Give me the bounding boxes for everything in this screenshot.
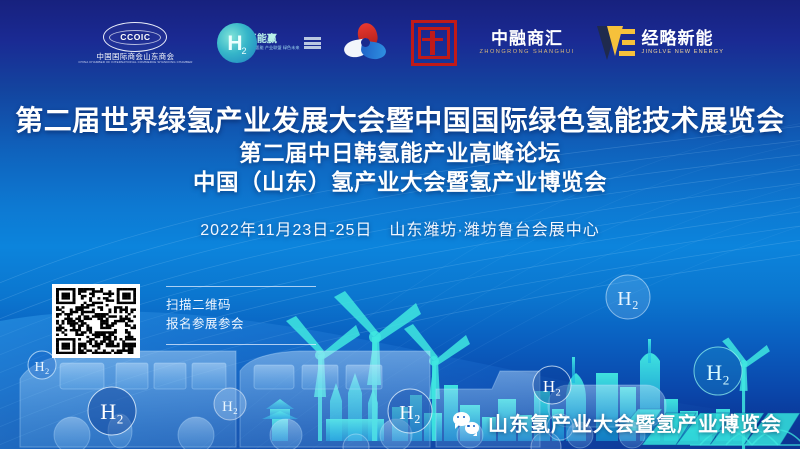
svg-text:H₂: H₂ (100, 399, 124, 424)
wechat-icon (453, 412, 479, 434)
wechat-account-name: 山东氢产业大会暨氢产业博览会 (488, 408, 782, 437)
qr-registration-block[interactable]: 扫描二维码 报名参展参会 (52, 284, 316, 358)
logo-h2-forum: H 2 氢能赢 中国氢能 产业联盟 绿色未来 (217, 19, 322, 67)
main-title: 第二届世界绿氢产业发展大会暨中国国际绿色氢能技术展览会 (0, 104, 800, 137)
svg-text:H₂: H₂ (399, 402, 420, 424)
svg-text:H₂: H₂ (617, 288, 638, 310)
h2-bar-icon (304, 37, 321, 49)
svg-text:H₂: H₂ (35, 360, 50, 375)
qr-line-1: 扫描二维码 (166, 296, 316, 315)
logo-jinglve-new-energy: 经略新能 JINGLVE NEW ENERGY (597, 19, 724, 67)
ccoic-english-name: CHINA CHAMBER OF INTERNATIONAL COMMERCE … (78, 61, 192, 64)
logo-tri-swirl (343, 19, 389, 67)
ccoic-chinese-name: 中国国际商会山东商会 (96, 53, 174, 60)
event-poster: CCOIC 中国国际商会山东商会 CHINA CHAMBER OF INTERN… (0, 0, 800, 449)
zhongrong-english-name: ZHONGRONG SHANGHUI (479, 50, 574, 56)
qr-line-2: 报名参展参会 (166, 315, 316, 334)
h2-bubble: H₂ (388, 389, 432, 433)
svg-text:H₂: H₂ (543, 377, 561, 396)
qr-code[interactable] (52, 284, 140, 358)
red-seal-icon (411, 20, 457, 66)
h2-subscript: 2 (241, 46, 246, 56)
h2-bubble: H₂ (88, 387, 136, 435)
h2-bubble (343, 434, 369, 449)
h2-letter: H (227, 33, 241, 54)
sponsor-logo-bar: CCOIC 中国国际商会山东商会 CHINA CHAMBER OF INTERN… (0, 14, 800, 72)
sub-title-2: 中国（山东）氢产业大会暨氢产业博览会 (0, 168, 800, 197)
svg-text:H₂: H₂ (706, 360, 730, 385)
ccoic-mark-text: CCOIC (120, 32, 150, 42)
tri-swirl-icon (343, 23, 389, 63)
h2-disc-icon: H 2 (217, 23, 257, 63)
title-block: 第二届世界绿氢产业发展大会暨中国国际绿色氢能技术展览会 第二届中日韩氢能产业高峰… (0, 104, 800, 240)
qr-divider-bottom (166, 344, 316, 345)
logo-red-seal (411, 19, 457, 67)
logo-zhongrong-shanghui: 中融商汇 ZHONGRONG SHANGHUI (479, 19, 574, 67)
h2-bubble: H₂ (694, 347, 742, 395)
qr-caption: 扫描二维码 报名参展参会 (166, 284, 316, 345)
wechat-account-footer: 山东氢产业大会暨氢产业博览会 (453, 408, 782, 437)
h2-bubble: H₂ (606, 275, 650, 319)
jinglve-chinese-name: 经略新能 (642, 30, 724, 47)
ve-mark-icon (597, 26, 635, 60)
logo-ccoic-shandong: CCOIC 中国国际商会山东商会 CHINA CHAMBER OF INTERN… (76, 19, 195, 67)
jinglve-english-name: JINGLVE NEW ENERGY (642, 50, 724, 56)
ccoic-emblem-icon: CCOIC (103, 22, 167, 52)
h2-bubble: H₂ (214, 388, 246, 420)
zhongrong-chinese-name: 中融商汇 (491, 30, 563, 47)
svg-text:H₂: H₂ (222, 399, 238, 415)
sub-title-1: 第二届中日韩氢能产业高峰论坛 (0, 139, 800, 168)
date-and-venue: 2022年11月23日-25日 山东潍坊·潍坊鲁台会展中心 (0, 216, 800, 240)
h2-bubble: H₂ (533, 366, 571, 404)
